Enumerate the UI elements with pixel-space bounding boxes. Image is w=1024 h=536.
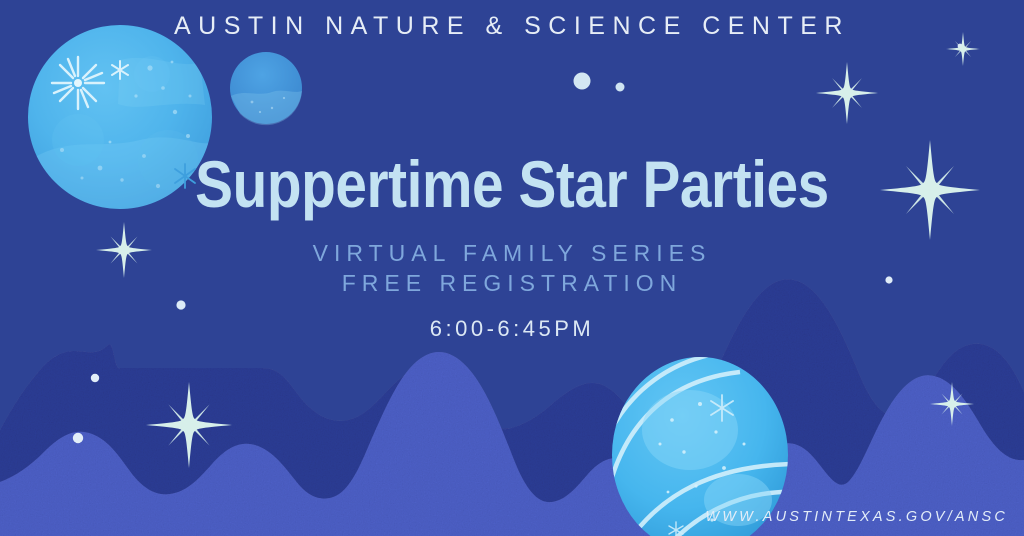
star-icon [930, 382, 974, 426]
organization-title: AUSTIN NATURE & SCIENCE CENTER [0, 12, 1024, 41]
poster-canvas: AUSTIN NATURE & SCIENCE CENTER Suppertim… [0, 0, 1024, 536]
foreground-stars-layer [0, 0, 1024, 536]
event-time: 6:00-6:45PM [0, 316, 1024, 342]
hill-dots [73, 374, 99, 443]
page-title: Suppertime Star Parties [72, 146, 953, 222]
subtitle-line-2: FREE REGISTRATION [0, 270, 1024, 297]
subtitle-line-1: VIRTUAL FAMILY SERIES [0, 240, 1024, 267]
website-url[interactable]: WWW.AUSTINTEXAS.GOV/ANSC [705, 509, 1008, 525]
star-icon [146, 382, 232, 468]
